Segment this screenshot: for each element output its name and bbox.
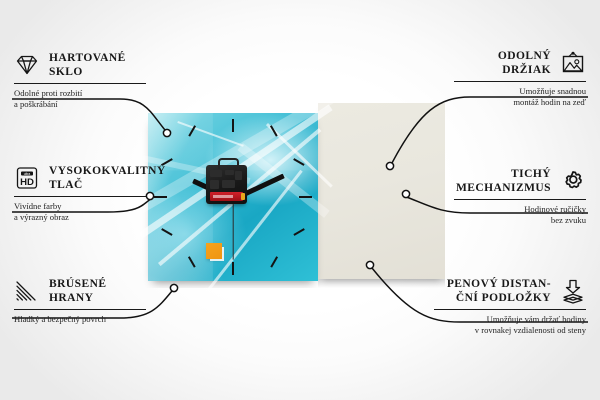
feature-subtitle: Odolné proti rozbití a poškrábání (14, 88, 162, 110)
foam-spacer-icon (560, 278, 586, 304)
feature-title: HARTOVANÉ SKLO (49, 52, 126, 79)
feature-polished-edges: BRÚSENÉ HRANY Hladký a bezpečný povrch (14, 278, 162, 325)
ultra-hd-icon-main-text: HD (20, 177, 34, 188)
feature-title: TICHÝ MECHANIZMUS (456, 168, 551, 195)
feature-title: ODOLNÝ DRŽIAK (498, 50, 551, 77)
feature-subtitle: Vivídne farby a výrazný obraz (14, 201, 162, 223)
gear-icon (560, 168, 586, 194)
polished-edges-icon (14, 278, 40, 304)
feature-hardened-glass: HARTOVANÉ SKLO Odolné proti rozbití a po… (14, 52, 162, 110)
mechanism-hanger-icon (218, 158, 239, 169)
clock-second-hand (232, 198, 233, 260)
feature-subtitle: Umožňuje vám držať hodiny v rovnakej vzd… (418, 314, 586, 336)
photo-backdrop (318, 103, 445, 279)
feature-silent-mechanism: TICHÝ MECHANIZMUS Hodinové ručičky bez z… (438, 168, 586, 226)
ultra-hd-icon: ultra HD (14, 165, 40, 191)
feature-subtitle: Hodinové ručičky bez zvuku (438, 204, 586, 226)
divider (434, 309, 586, 310)
feature-high-quality-print: ultra HD VYSOKOKVALITNÝ TLAČ Vivídne far… (14, 165, 162, 223)
feature-title: VYSOKOKVALITNÝ TLAČ (49, 165, 166, 192)
divider (454, 199, 586, 200)
picture-hanger-icon (560, 50, 586, 76)
feature-foam-spacers: PENOVÝ DISTAN- ČNÍ PODLOŽKY Umožňuje vám… (418, 278, 586, 336)
divider (14, 309, 146, 310)
feature-subtitle: Umožňuje snadnou montáž hodin na zeď (438, 86, 586, 108)
battery (210, 192, 243, 201)
clock-mechanism (206, 165, 247, 204)
ultra-hd-icon-top-text: ultra (24, 172, 31, 176)
divider (14, 196, 146, 197)
diamond-icon (14, 52, 40, 78)
divider (14, 83, 146, 84)
infographic-canvas: HARTOVANÉ SKLO Odolné proti rozbití a po… (0, 0, 600, 400)
feature-subtitle: Hladký a bezpečný povrch (14, 314, 162, 325)
feature-title: BRÚSENÉ HRANY (49, 278, 106, 305)
feature-durable-hanger: ODOLNÝ DRŽIAK Umožňuje snadnou montáž ho… (438, 50, 586, 108)
divider (454, 81, 586, 82)
foam-spacer-pad (206, 243, 222, 259)
feature-title: PENOVÝ DISTAN- ČNÍ PODLOŽKY (447, 278, 551, 305)
product-photo (140, 103, 445, 288)
